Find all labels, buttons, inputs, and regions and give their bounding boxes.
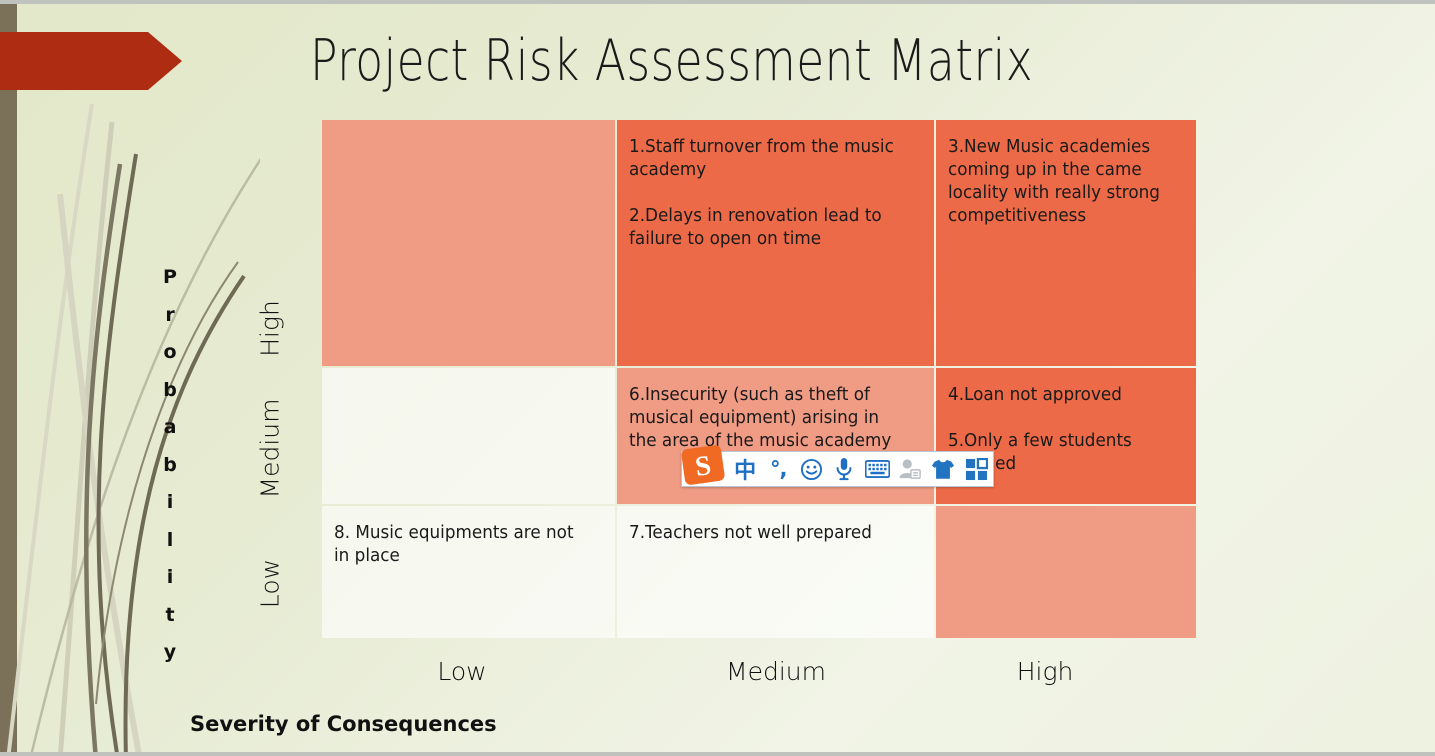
x-tick-medium: Medium bbox=[686, 657, 866, 686]
emoji-icon[interactable] bbox=[795, 452, 828, 486]
toolbox-icon[interactable] bbox=[960, 452, 993, 486]
matrix-cell-low-high bbox=[936, 506, 1196, 638]
matrix-cell-medium-low bbox=[322, 368, 615, 504]
x-tick-high: High bbox=[955, 657, 1135, 686]
matrix-cell-low-medium: 7.Teachers not well prepared bbox=[617, 506, 934, 638]
grass-decoration bbox=[0, 4, 260, 756]
y-axis-letter: y bbox=[155, 634, 185, 672]
skin-icon[interactable] bbox=[927, 452, 960, 486]
y-axis-letter: t bbox=[155, 597, 185, 635]
y-tick-low: Low bbox=[256, 534, 285, 634]
page-title: Project Risk Assessment Matrix bbox=[310, 28, 1033, 94]
y-axis-letter: i bbox=[155, 559, 185, 597]
matrix-cell-text: 8. Music equipments are not in place bbox=[334, 522, 592, 568]
matrix-cell-low-low: 8. Music equipments are not in place bbox=[322, 506, 615, 638]
voice-input-icon[interactable] bbox=[828, 452, 861, 486]
y-axis-letter: a bbox=[155, 409, 185, 447]
y-axis-letter: r bbox=[155, 297, 185, 335]
sogou-ime-toolbar[interactable]: 中 °, bbox=[681, 451, 994, 487]
left-accent-stripe bbox=[0, 4, 17, 756]
x-tick-low: Low bbox=[372, 657, 552, 686]
y-axis-letter: i bbox=[155, 484, 185, 522]
matrix-cell-text: 1.Staff turnover from the music academy … bbox=[629, 136, 910, 251]
punctuation-toggle[interactable]: °, bbox=[762, 452, 795, 486]
risk-matrix-grid: 1.Staff turnover from the music academy … bbox=[322, 120, 1192, 634]
user-account-icon[interactable] bbox=[894, 452, 927, 486]
soft-keyboard-icon[interactable] bbox=[861, 452, 894, 486]
y-axis-title: P r o b a b i l i t y bbox=[155, 259, 185, 672]
y-axis-letter: o bbox=[155, 334, 185, 372]
y-axis-letter: b bbox=[155, 447, 185, 485]
x-axis-title: Severity of Consequences bbox=[190, 712, 497, 736]
presentation-slide: Project Risk Assessment Matrix P r o b a… bbox=[0, 0, 1435, 756]
y-axis-letter: l bbox=[155, 522, 185, 560]
matrix-cell-text: 7.Teachers not well prepared bbox=[629, 522, 910, 545]
matrix-cell-high-low bbox=[322, 120, 615, 366]
arrow-banner-decoration bbox=[0, 32, 182, 90]
matrix-cell-high-medium: 1.Staff turnover from the music academy … bbox=[617, 120, 934, 366]
chinese-mode-toggle[interactable]: 中 bbox=[729, 452, 762, 486]
y-axis-letter: P bbox=[155, 259, 185, 297]
matrix-cell-high-high: 3.New Music academies coming up in the c… bbox=[936, 120, 1196, 366]
y-tick-medium: Medium bbox=[256, 379, 285, 519]
y-tick-high: High bbox=[256, 274, 285, 384]
matrix-cell-text: 6.Insecurity (such as theft of musical e… bbox=[629, 384, 910, 453]
sogou-logo-icon[interactable]: S bbox=[680, 445, 726, 485]
y-axis-letter: b bbox=[155, 372, 185, 410]
matrix-cell-text: 3.New Music academies coming up in the c… bbox=[948, 136, 1175, 228]
